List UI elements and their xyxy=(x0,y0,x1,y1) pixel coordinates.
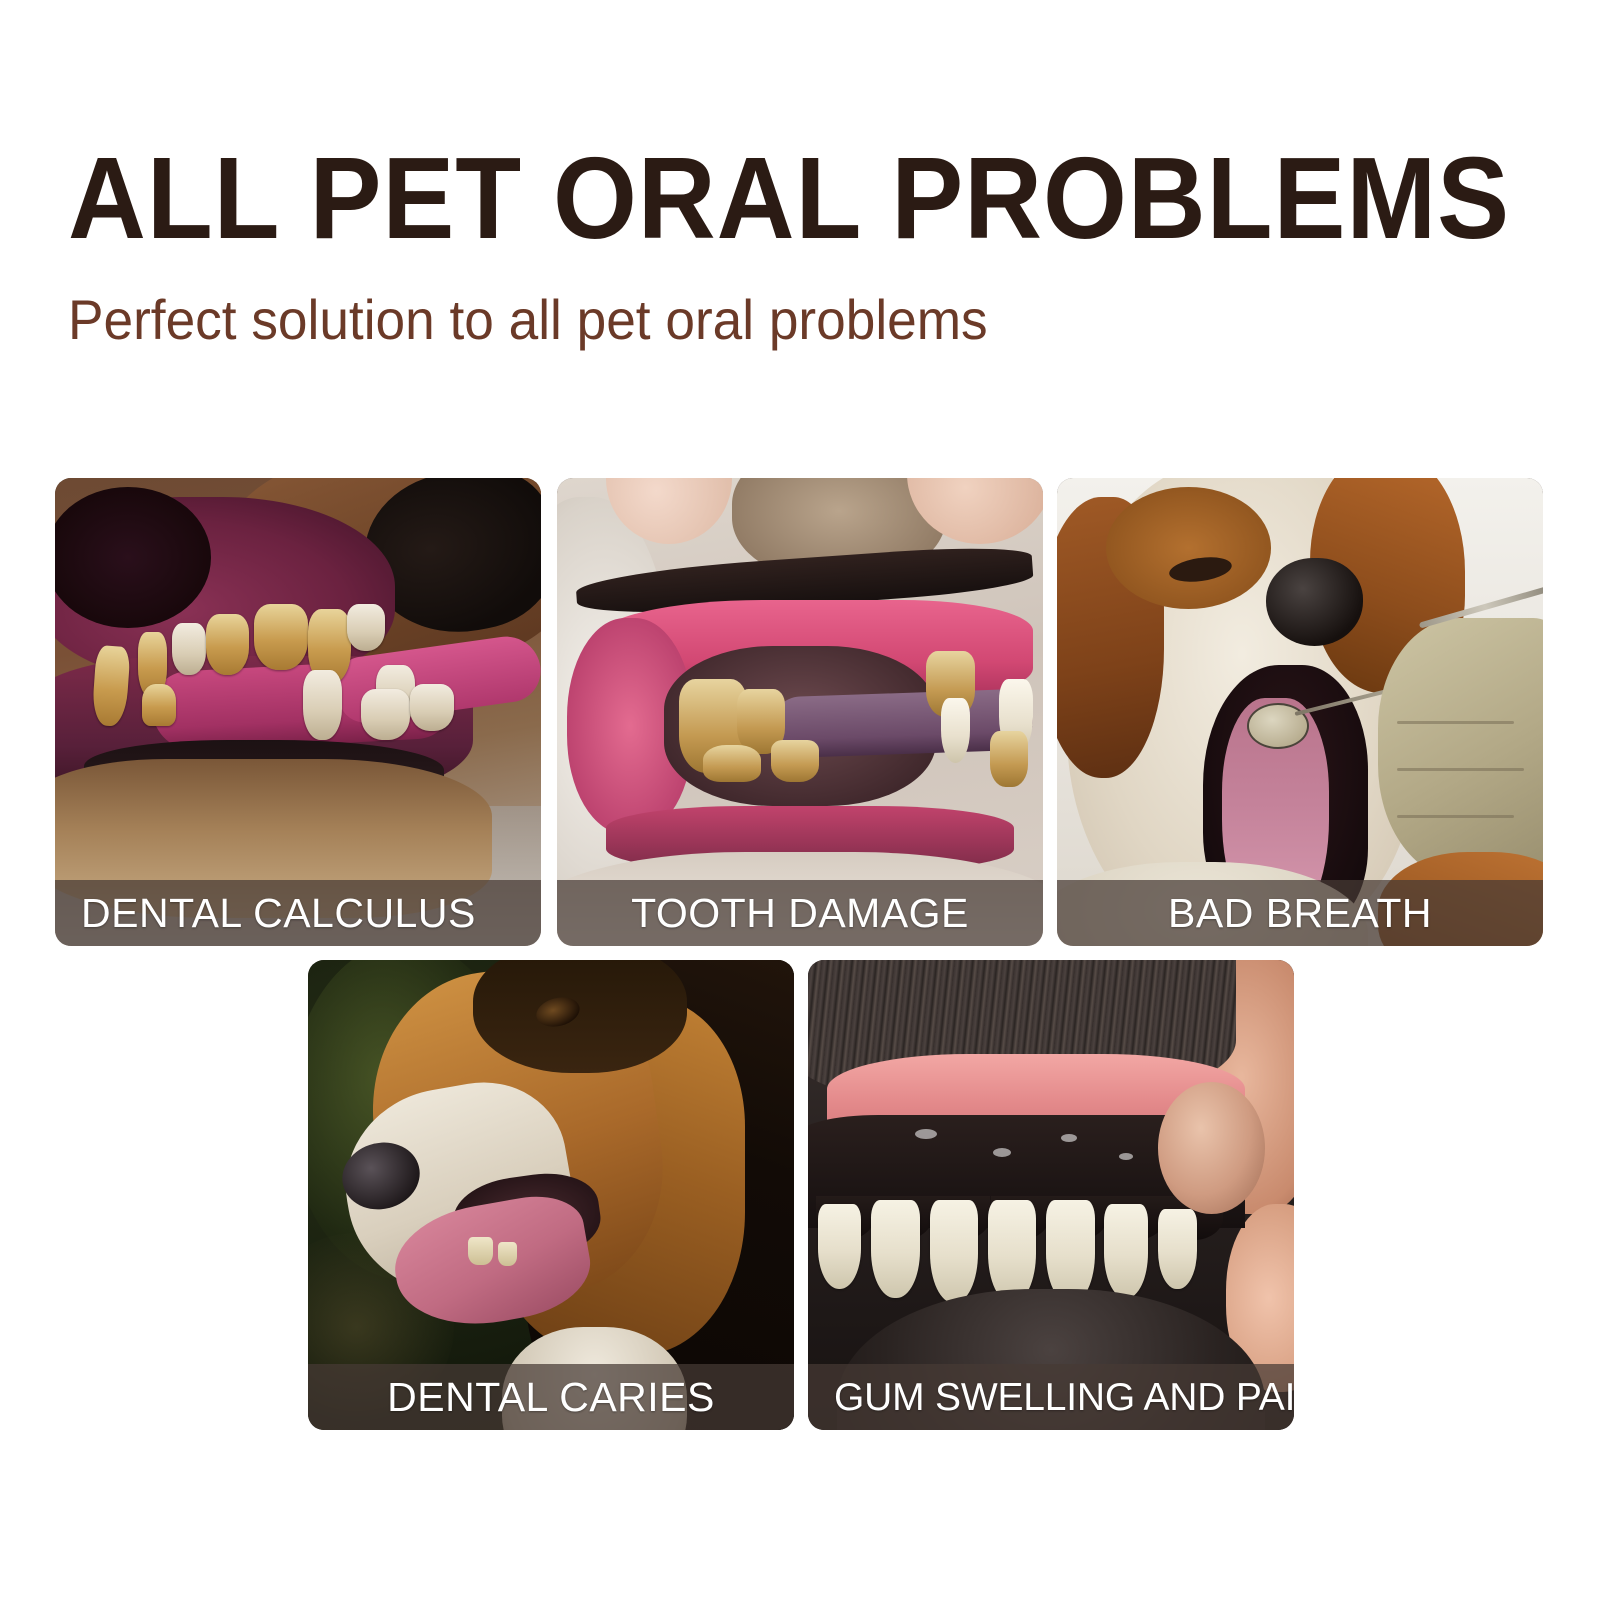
photo-gum-swelling: GUM SWELLING AND PAIN xyxy=(808,960,1294,1430)
problem-card-dental-calculus[interactable]: DENTAL CALCULUS xyxy=(55,478,541,946)
photo-dental-calculus: DENTAL CALCULUS xyxy=(55,478,541,946)
photo-tooth-damage: TOOTH DAMAGE xyxy=(557,478,1043,946)
problem-card-tooth-damage[interactable]: TOOTH DAMAGE xyxy=(557,478,1043,946)
caption-band: TOOTH DAMAGE xyxy=(557,880,1043,946)
photo-dental-caries: DENTAL CARIES xyxy=(308,960,794,1430)
problem-card-dental-caries[interactable]: DENTAL CARIES xyxy=(308,960,794,1430)
card-caption: TOOTH DAMAGE xyxy=(631,893,969,934)
card-caption: BAD BREATH xyxy=(1168,893,1432,934)
problem-card-bad-breath[interactable]: BAD BREATH xyxy=(1057,478,1543,946)
problem-image-grid: DENTAL CALCULUS TO xyxy=(0,0,1600,1600)
card-caption: DENTAL CALCULUS xyxy=(81,893,476,934)
caption-band: BAD BREATH xyxy=(1057,880,1543,946)
card-caption: GUM SWELLING AND PAIN xyxy=(834,1378,1294,1417)
caption-band: GUM SWELLING AND PAIN xyxy=(808,1364,1294,1430)
problem-card-gum-swelling[interactable]: GUM SWELLING AND PAIN xyxy=(808,960,1294,1430)
caption-band: DENTAL CARIES xyxy=(308,1364,794,1430)
photo-bad-breath: BAD BREATH xyxy=(1057,478,1543,946)
caption-band: DENTAL CALCULUS xyxy=(55,880,541,946)
card-caption: DENTAL CARIES xyxy=(387,1377,715,1418)
